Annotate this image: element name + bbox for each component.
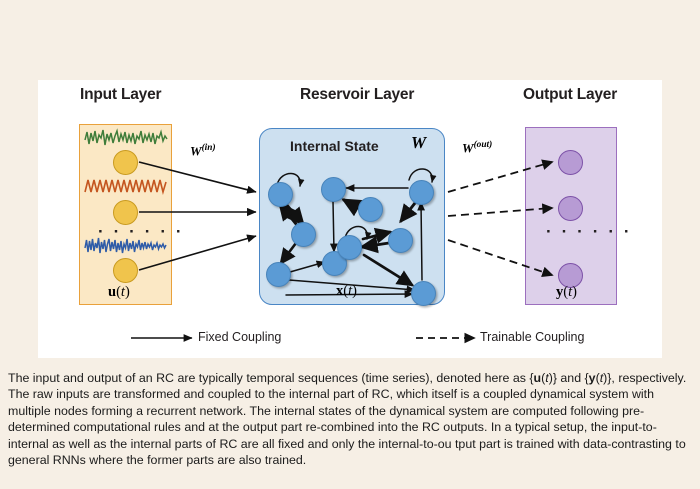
output-node-1[interactable]: [558, 150, 583, 175]
legend-trainable-label: Trainable Coupling: [480, 330, 584, 344]
reservoir-node-f[interactable]: [358, 197, 383, 222]
reservoir-node-a[interactable]: [268, 182, 293, 207]
reservoir-node-b[interactable]: [291, 222, 316, 247]
output-weight-label: W(out): [462, 140, 492, 156]
output-weight-superscript: (out): [474, 140, 493, 150]
input-layer-title: Input Layer: [80, 86, 161, 104]
reservoir-node-g[interactable]: [337, 235, 362, 260]
reservoir-node-c[interactable]: [266, 262, 291, 287]
output-node-2[interactable]: [558, 196, 583, 221]
reservoir-layer-title: Reservoir Layer: [300, 86, 414, 104]
input-vector-label: u(t): [108, 284, 130, 301]
input-node-3[interactable]: [113, 258, 138, 283]
output-weight-symbol: W: [462, 140, 474, 155]
input-node-1[interactable]: [113, 150, 138, 175]
figure-caption: The input and output of an RC are typica…: [8, 370, 692, 468]
reservoir-node-i[interactable]: [388, 228, 413, 253]
input-weight-superscript: (in): [202, 143, 216, 153]
reservoir-weight-symbol: W: [411, 133, 426, 153]
reservoir-node-e[interactable]: [321, 177, 346, 202]
reservoir-vector-label: x(t): [336, 283, 357, 300]
output-vector-label: y(t): [556, 284, 577, 301]
input-layer-ellipsis: · · · · · ·: [98, 222, 184, 242]
input-weight-label: W(in): [190, 143, 216, 159]
reservoir-node-h[interactable]: [409, 180, 434, 205]
legend-fixed-label: Fixed Coupling: [198, 330, 281, 344]
internal-state-label: Internal State: [290, 138, 379, 154]
output-layer-ellipsis: · · · · · ·: [546, 222, 632, 242]
reservoir-node-k[interactable]: [411, 281, 436, 306]
input-weight-symbol: W: [190, 143, 202, 158]
output-layer-title: Output Layer: [523, 86, 617, 104]
